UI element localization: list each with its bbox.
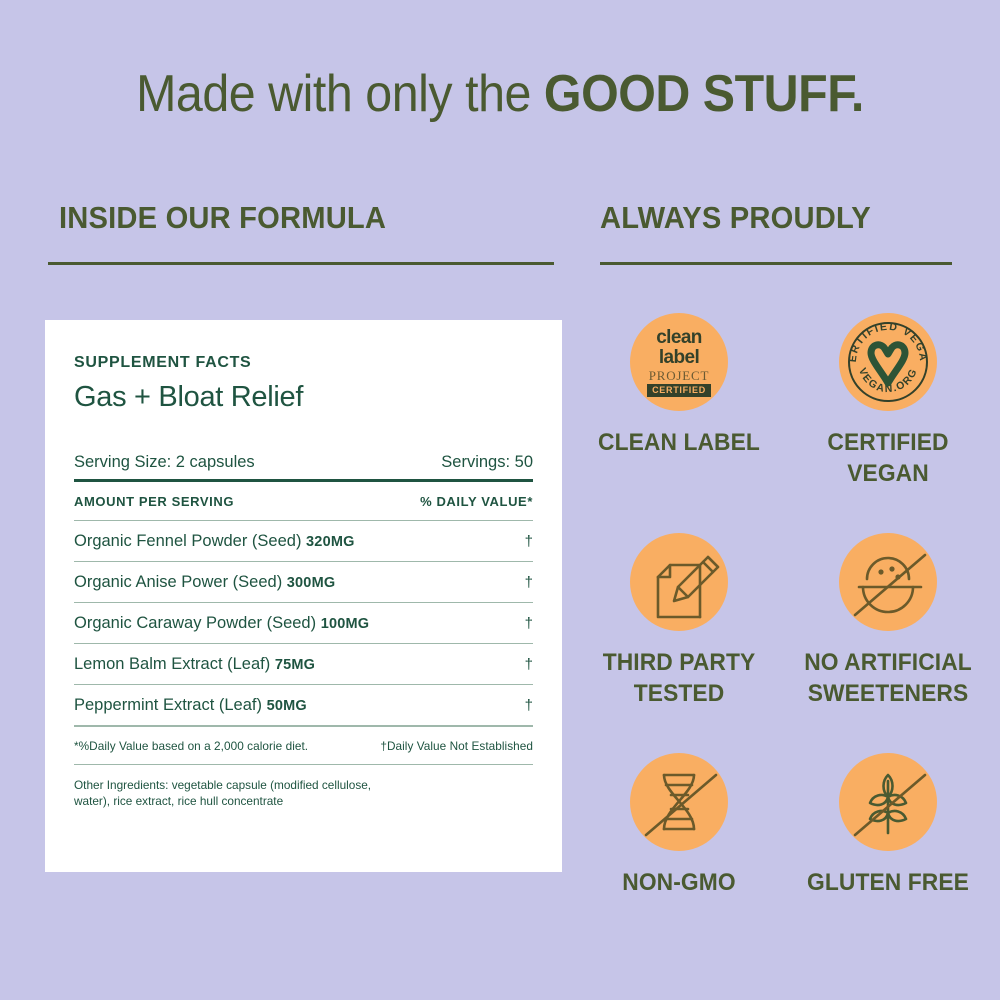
section-heading-inside-our-formula: INSIDE OUR FORMULA xyxy=(59,200,386,236)
other-ingredients: Other Ingredients: vegetable capsule (mo… xyxy=(74,765,404,809)
badge-label: THIRD PARTY TESTED xyxy=(584,647,774,709)
ingredient-daily-value: † xyxy=(525,697,533,714)
badge-label: CERTIFIED VEGAN xyxy=(793,427,983,489)
servings-count: Servings: 50 xyxy=(441,453,533,472)
ingredient-amount: 75MG xyxy=(275,657,315,673)
ingredient-daily-value: † xyxy=(525,656,533,673)
badge-certified-vegan: CERTIFIED VEGAN VEGAN.ORG CERTIFIED VEGA… xyxy=(788,313,988,489)
badge-label: CLEAN LABEL xyxy=(584,427,774,458)
badge-non-gmo: NON-GMO xyxy=(579,753,779,898)
badge-gluten-free: GLUTEN FREE xyxy=(788,753,988,898)
table-row: Organic Fennel Powder (Seed) 320MG † xyxy=(74,521,533,561)
badge-no-artificial-sweeteners: NO ARTIFICIAL SWEETENERS xyxy=(788,533,988,709)
column-header-daily-value: % DAILY VALUE* xyxy=(420,494,533,509)
clean-label-project-seal-icon: clean label PROJECT CERTIFIED xyxy=(630,313,728,411)
supplement-facts-panel: SUPPLEMENT FACTS Gas + Bloat Relief Serv… xyxy=(45,320,562,872)
serving-size: Serving Size: 2 capsules xyxy=(74,453,255,472)
certified-vegan-seal-icon: CERTIFIED VEGAN VEGAN.ORG xyxy=(839,313,937,411)
panel-kicker: SUPPLEMENT FACTS xyxy=(74,354,533,372)
seal-line-label: label xyxy=(659,348,699,367)
document-pencil-icon xyxy=(630,533,728,631)
table-row: Lemon Balm Extract (Leaf) 75MG † xyxy=(74,644,533,684)
sugar-bowl-slash-icon xyxy=(839,533,937,631)
ingredient-name: Organic Caraway Powder (Seed) xyxy=(74,614,316,633)
section-divider-right xyxy=(600,262,952,265)
headline-light-text: Made with only the xyxy=(136,65,544,123)
seal-line-clean: clean xyxy=(656,328,702,347)
headline-bold-text: GOOD STUFF. xyxy=(544,65,864,123)
column-header-amount: AMOUNT PER SERVING xyxy=(74,494,234,509)
table-row: Organic Anise Power (Seed) 300MG † xyxy=(74,562,533,602)
ingredient-name: Organic Anise Power (Seed) xyxy=(74,573,282,592)
ingredient-amount: 320MG xyxy=(306,534,355,550)
ingredient-daily-value: † xyxy=(525,574,533,591)
badge-clean-label: clean label PROJECT CERTIFIED CLEAN LABE… xyxy=(579,313,779,458)
ingredient-daily-value: † xyxy=(525,533,533,550)
dna-helix-slash-icon xyxy=(630,753,728,851)
page-headline: Made with only the GOOD STUFF. xyxy=(35,62,965,126)
footnote-daily-value-basis: *%Daily Value based on a 2,000 calorie d… xyxy=(74,739,308,753)
footnote-row: *%Daily Value based on a 2,000 calorie d… xyxy=(74,727,533,764)
section-heading-always-proudly: ALWAYS PROUDLY xyxy=(600,200,871,236)
wheat-stalk-slash-icon xyxy=(839,753,937,851)
seal-line-certified: CERTIFIED xyxy=(647,384,711,397)
ingredient-amount: 50MG xyxy=(267,698,307,714)
table-row: Peppermint Extract (Leaf) 50MG † xyxy=(74,685,533,725)
ingredient-daily-value: † xyxy=(525,615,533,632)
badge-label: NON-GMO xyxy=(584,867,774,898)
product-name: Gas + Bloat Relief xyxy=(74,381,533,414)
footnote-dv-not-established: †Daily Value Not Established xyxy=(380,739,533,753)
ingredient-amount: 300MG xyxy=(287,575,336,591)
badge-label: NO ARTIFICIAL SWEETENERS xyxy=(793,647,983,709)
seal-line-project: PROJECT xyxy=(649,369,710,382)
ingredient-name: Peppermint Extract (Leaf) xyxy=(74,696,262,715)
table-column-headers: AMOUNT PER SERVING % DAILY VALUE* xyxy=(74,482,533,520)
badge-third-party-tested: THIRD PARTY TESTED xyxy=(579,533,779,709)
ingredient-name: Lemon Balm Extract (Leaf) xyxy=(74,655,270,674)
badge-label: GLUTEN FREE xyxy=(793,867,983,898)
svg-text:CERTIFIED VEGAN: CERTIFIED VEGAN xyxy=(839,313,929,363)
ingredient-name: Organic Fennel Powder (Seed) xyxy=(74,532,301,551)
section-divider-left xyxy=(48,262,554,265)
serving-info-row: Serving Size: 2 capsules Servings: 50 xyxy=(74,453,533,479)
table-row: Organic Caraway Powder (Seed) 100MG † xyxy=(74,603,533,643)
ingredient-amount: 100MG xyxy=(321,616,370,632)
